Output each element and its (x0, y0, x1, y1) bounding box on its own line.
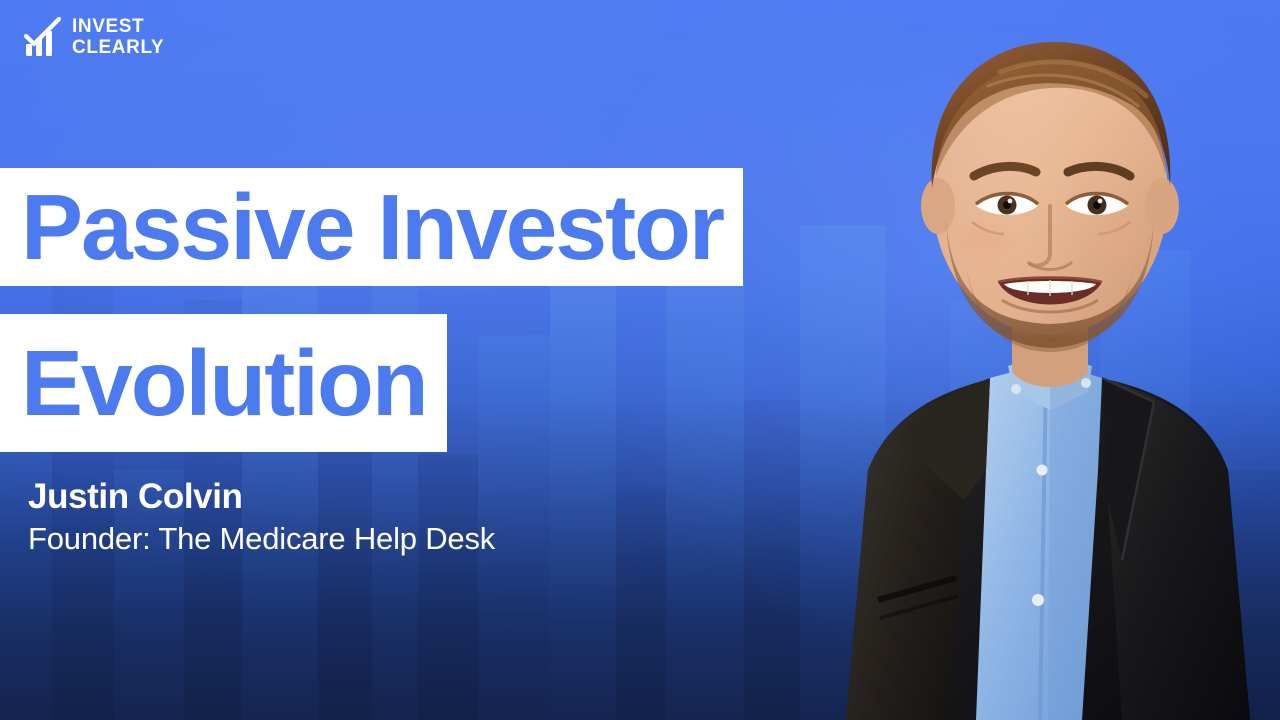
background-bar (0, 420, 52, 720)
brand-name: INVEST CLEARLY (72, 16, 164, 58)
speaker-portrait (750, 0, 1280, 720)
video-thumbnail: INVEST CLEARLY Passive Investor Evolutio… (0, 0, 1280, 720)
brand-name-line2: CLEARLY (72, 37, 164, 58)
background-bar (616, 490, 666, 720)
speaker-role: Founder: The Medicare Help Desk (28, 520, 495, 558)
brand-name-line1: INVEST (72, 16, 164, 37)
speaker-name: Justin Colvin (28, 476, 495, 518)
title-line-1: Passive Investor (0, 168, 743, 286)
title-line-2: Evolution (0, 314, 447, 452)
bar-chart-check-icon (24, 16, 62, 58)
speaker-block: Justin Colvin Founder: The Medicare Help… (28, 476, 495, 558)
brand-logo[interactable]: INVEST CLEARLY (24, 16, 164, 58)
title-block: Passive Investor Evolution (0, 168, 743, 452)
